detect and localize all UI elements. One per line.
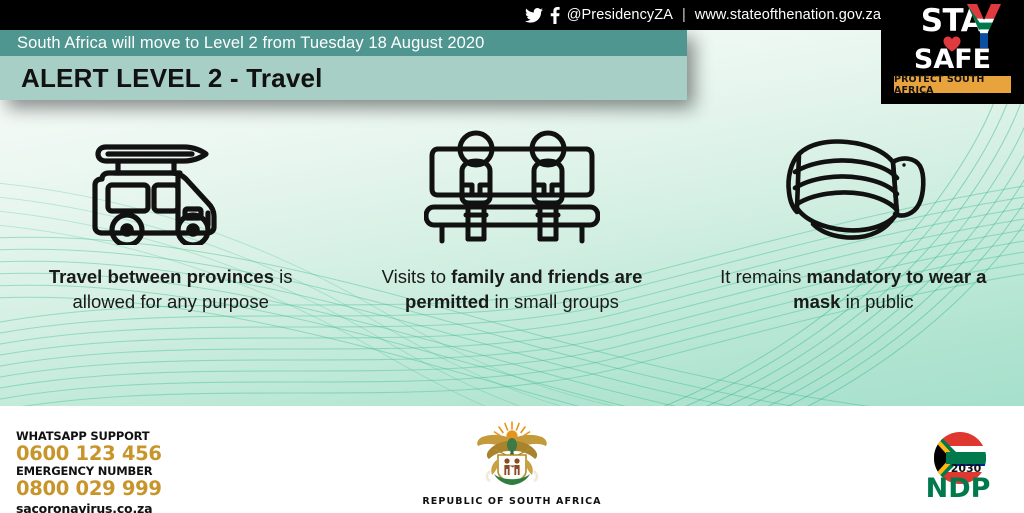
banner-heading: ALERT LEVEL 2 - Travel xyxy=(21,63,323,94)
banner-subheading: South Africa will move to Level 2 from T… xyxy=(17,34,484,53)
panel-caption: It remains mandatory to wear a mask in p… xyxy=(703,264,1003,314)
coat-of-arms-block: REPUBLIC OF SOUTH AFRICA xyxy=(412,419,612,507)
protect-south-africa-tagline: PROTECT SOUTH AFRICA xyxy=(894,76,1011,93)
camper-van-icon xyxy=(88,127,254,245)
icon-container xyxy=(88,126,254,246)
separator: | xyxy=(680,7,688,23)
banner-subheading-strip: South Africa will move to Level 2 from T… xyxy=(0,30,687,56)
twitter-handle[interactable]: @PresidencyZA xyxy=(567,7,673,23)
alert-level-2-travel-poster: @PresidencyZA | www.stateofthenation.gov… xyxy=(0,0,1024,513)
website-url[interactable]: www.stateofthenation.gov.za xyxy=(695,7,881,23)
banner-heading-strip: ALERT LEVEL 2 - Travel xyxy=(0,56,687,100)
caption-plain-part-2: in public xyxy=(840,291,913,312)
ndp-logo: 2030 NDP xyxy=(906,428,1010,500)
twitter-icon[interactable] xyxy=(525,8,543,23)
icon-container xyxy=(773,126,933,246)
contact-block: WHATSAPP SUPPORT 0600 123 456 EMERGENCY … xyxy=(16,431,162,513)
caption-plain-part: Visits to xyxy=(382,266,452,287)
top-social-bar: @PresidencyZA | www.stateofthenation.gov… xyxy=(0,0,1024,30)
panel-caption: Travel between provinces is allowed for … xyxy=(21,264,321,314)
alert-level-banner: South Africa will move to Level 2 from T… xyxy=(0,30,687,100)
whatsapp-support-label: WHATSAPP SUPPORT xyxy=(16,431,162,443)
republic-of-south-africa-caption: REPUBLIC OF SOUTH AFRICA xyxy=(412,496,612,507)
footer: WHATSAPP SUPPORT 0600 123 456 EMERGENCY … xyxy=(0,406,1024,513)
caption-plain-part: It remains xyxy=(720,266,806,287)
coronavirus-website-link[interactable]: sacoronavirus.co.za xyxy=(16,503,162,513)
south-africa-coat-of-arms xyxy=(464,419,560,489)
two-people-on-bench-icon xyxy=(424,127,600,245)
facebook-icon[interactable] xyxy=(550,7,560,24)
social-links: @PresidencyZA | www.stateofthenation.gov… xyxy=(525,0,881,30)
panel-caption: Visits to family and friends are permitt… xyxy=(362,264,662,314)
face-mask-icon xyxy=(773,128,933,244)
caption-bold-part: Travel between provinces xyxy=(49,266,274,287)
ndp-wordmark: NDP xyxy=(926,473,991,500)
emergency-number-label: EMERGENCY NUMBER xyxy=(16,466,162,478)
south-africa-flag-y-icon xyxy=(967,4,1001,48)
stay-safe-logo: STA SAFE PROTECT SOUTH AFRICA xyxy=(881,0,1024,104)
whatsapp-support-number[interactable]: 0600 123 456 xyxy=(16,444,162,464)
stay-text: STA xyxy=(881,4,1024,38)
caption-plain-part-2: in small groups xyxy=(489,291,619,312)
safe-label: SAFE xyxy=(881,44,1024,75)
emergency-number[interactable]: 0800 029 999 xyxy=(16,479,162,499)
icon-container xyxy=(424,126,600,246)
